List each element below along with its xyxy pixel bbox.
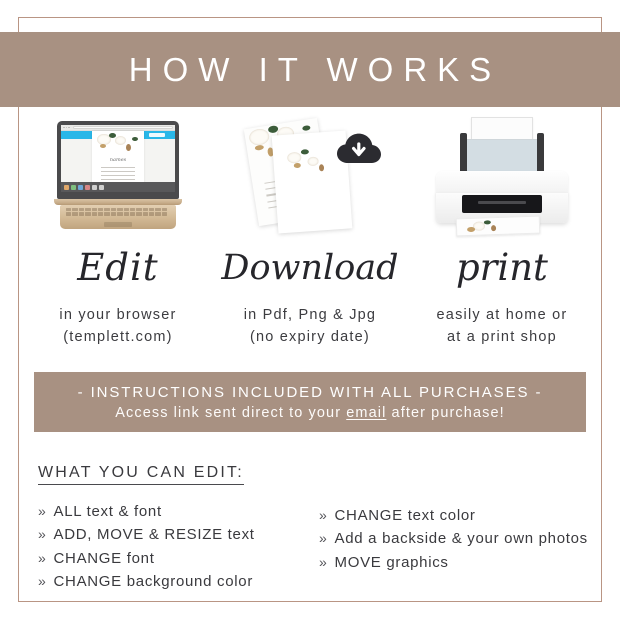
printer-output-slot: [462, 195, 542, 213]
listing-graphic: HOW IT WORKS: [0, 0, 620, 620]
double-chevron-icon: »: [38, 524, 47, 546]
step-caption-line1: easily at home or: [437, 304, 568, 326]
list-item-label: ALL text & font: [54, 500, 162, 523]
list-item-label: Add a backside & your own photos: [335, 527, 588, 550]
step-caption-line1: in your browser: [59, 304, 176, 326]
instructions-banner: - INSTRUCTIONS INCLUDED WITH ALL PURCHAS…: [34, 372, 586, 432]
instructions-subline-after: after purchase!: [386, 405, 504, 421]
keyboard-keys: [66, 208, 170, 216]
page-title: HOW IT WORKS: [119, 51, 501, 89]
header-band: HOW IT WORKS: [0, 32, 620, 107]
taskbar: [61, 182, 175, 192]
invitation-names: names: [92, 157, 144, 163]
list-item: » CHANGE text color: [319, 504, 594, 527]
step-caption-line1: in Pdf, Png & Jpg: [244, 304, 376, 326]
invitation-text-lines: [101, 167, 135, 183]
cloud-download-icon: [337, 133, 381, 167]
step-caption-line2: at a print shop: [437, 326, 568, 348]
step-caption: in Pdf, Png & Jpg (no expiry date): [244, 304, 376, 349]
step-script-label: Edit: [77, 249, 158, 286]
list-item: » CHANGE font: [38, 547, 313, 570]
editor-canvas: names: [61, 139, 175, 182]
list-item: » Add a backside & your own photos: [319, 527, 594, 550]
step-caption: in your browser (templett.com): [59, 304, 176, 349]
instructions-subline: Access link sent direct to your email af…: [115, 405, 505, 421]
list-item-label: CHANGE text color: [335, 504, 476, 527]
edit-features-left-column: » ALL text & font » ADD, MOVE & RESIZE t…: [38, 500, 313, 593]
double-chevron-icon: »: [319, 528, 328, 550]
list-item-label: ADD, MOVE & RESIZE text: [54, 523, 255, 546]
toolbar-button: [149, 133, 165, 137]
list-item: » MOVE graphics: [319, 551, 594, 574]
list-item: » CHANGE background color: [38, 570, 313, 593]
double-chevron-icon: »: [319, 505, 328, 527]
list-item: » ALL text & font: [38, 500, 313, 523]
step-script-label: print: [456, 249, 548, 286]
laptop-trackpad: [104, 222, 132, 227]
step-caption-line2: (templett.com): [59, 326, 176, 348]
printer-slot-bar: [478, 201, 526, 204]
browser-dot-icon: [63, 127, 65, 129]
printed-card: [456, 216, 541, 237]
step-print: print easily at home or at a print shop: [406, 115, 598, 350]
email-link[interactable]: email: [346, 405, 386, 421]
step-caption: easily at home or at a print shop: [437, 304, 568, 349]
laptop-screen: names: [61, 125, 175, 192]
printer-icon: [428, 117, 576, 237]
step-script-label: Download: [221, 251, 398, 286]
double-chevron-icon: »: [38, 548, 47, 570]
laptop-icon: names: [54, 121, 182, 229]
double-chevron-icon: »: [38, 571, 47, 593]
laptop-lid: names: [57, 121, 179, 199]
browser-dot-icon: [68, 127, 70, 129]
download-illustration: names: [214, 115, 406, 237]
list-item-label: MOVE graphics: [335, 551, 449, 574]
instructions-subline-before: Access link sent direct to your: [115, 405, 346, 421]
laptop-keyboard-base: [60, 205, 176, 229]
step-edit: names: [22, 115, 214, 350]
browser-url-bar: [73, 126, 173, 129]
browser-dot-icon: [66, 127, 68, 129]
step-caption-line2: (no expiry date): [244, 326, 376, 348]
step-download: names: [214, 115, 406, 350]
double-chevron-icon: »: [319, 552, 328, 574]
list-item-label: CHANGE font: [54, 547, 155, 570]
double-chevron-icon: »: [38, 501, 47, 523]
edit-section-heading: WHAT YOU CAN EDIT:: [38, 464, 244, 485]
printer-input-tray: [462, 139, 542, 175]
laptop-illustration: names: [22, 115, 214, 237]
printer-illustration: [406, 115, 598, 237]
instructions-headline: - INSTRUCTIONS INCLUDED WITH ALL PURCHAS…: [78, 384, 543, 401]
edit-features-columns: » ALL text & font » ADD, MOVE & RESIZE t…: [38, 500, 594, 593]
list-item: » ADD, MOVE & RESIZE text: [38, 523, 313, 546]
steps-row: names: [22, 115, 598, 350]
list-item-label: CHANGE background color: [54, 570, 254, 593]
edit-features-right-column: » CHANGE text color » Add a backside & y…: [319, 500, 594, 593]
